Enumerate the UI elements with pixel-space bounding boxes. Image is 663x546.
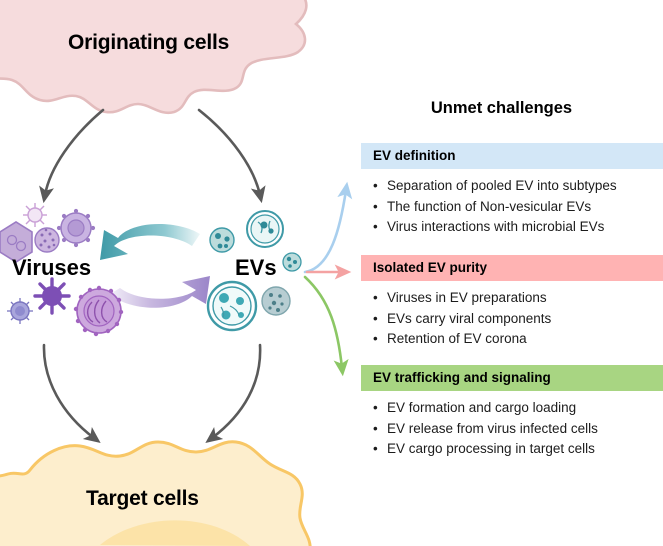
virus-corona-icon [57,209,95,247]
evs-label: EVs [235,255,277,281]
bullet-icon: • [373,217,387,238]
ev-cargo-large-icon [208,282,256,330]
list-item: • EV cargo processing in target cells [373,439,663,460]
panel-header-ev-trafficking-and-signaling: EV trafficking and signaling [361,365,663,391]
connector-ev-trafficking [305,277,342,368]
list-item-text: Separation of pooled EV into subtypes [387,176,663,197]
ev-tiny-icon [283,253,301,271]
list-item-text: EV formation and cargo loading [387,398,663,419]
bullet-icon: • [373,439,387,460]
list-item: • Separation of pooled EV into subtypes [373,176,663,197]
panel-body-ev-trafficking-and-signaling: • EV formation and cargo loading • EV re… [361,391,663,460]
list-item: • EV formation and cargo loading [373,398,663,419]
virus-enveloped-large-icon [74,286,123,336]
bullet-icon: • [373,288,387,309]
figure-canvas: Originating cells Target cells Viruses E… [0,0,663,546]
ev-small-granular-icon [210,228,234,252]
list-item-text: Viruses in EV preparations [387,288,663,309]
panel-body-ev-definition: • Separation of pooled EV into subtypes … [361,169,663,238]
bullet-icon: • [373,197,387,218]
list-item: • Viruses in EV preparations [373,288,663,309]
list-item: • Virus interactions with microbial EVs [373,217,663,238]
bullet-icon: • [373,398,387,419]
target-cells-label: Target cells [86,487,199,511]
arrow-origin-to-viruses [45,110,103,195]
list-item-text: Virus interactions with microbial EVs [387,217,663,238]
list-item: • EVs carry viral components [373,309,663,330]
panel-header-ev-definition: EV definition [361,143,663,169]
cycle-arrow-top-teal [100,224,200,260]
virus-dotted-icon [35,228,59,252]
ev-speckled-icon [262,287,290,315]
bullet-icon: • [373,419,387,440]
unmet-challenges-column: Unmet challenges EV definition • Separat… [340,0,663,546]
list-item: • EV release from virus infected cells [373,419,663,440]
bullet-icon: • [373,329,387,350]
ev-strands-icon [247,211,283,247]
cycle-arrow-bottom-purple [110,276,210,308]
viruses-label: Viruses [12,255,91,281]
list-item-text: EV release from virus infected cells [387,419,663,440]
list-item: • The function of Non-vesicular EVs [373,197,663,218]
originating-cells-label: Originating cells [68,31,229,55]
virus-small-blue-icon [7,298,33,324]
originating-cell-shape [0,0,306,113]
list-item-text: EVs carry viral components [387,309,663,330]
panel-ev-definition: EV definition • Separation of pooled EV … [361,143,663,238]
panel-body-isolated-ev-purity: • Viruses in EV preparations • EVs carry… [361,281,663,350]
list-item-text: The function of Non-vesicular EVs [387,197,663,218]
virus-spiky-small-icon [23,203,47,227]
list-item-text: EV cargo processing in target cells [387,439,663,460]
panel-isolated-ev-purity: Isolated EV purity • Viruses in EV prepa… [361,255,663,350]
panel-header-isolated-ev-purity: Isolated EV purity [361,255,663,281]
virus-knob-icon [35,279,69,313]
arrow-origin-to-evs [199,110,260,195]
cycle-arrows [100,224,210,308]
arrow-viruses-to-target [44,345,94,438]
bullet-icon: • [373,309,387,330]
unmet-challenges-title: Unmet challenges [340,99,663,118]
bullet-icon: • [373,176,387,197]
list-item-text: Retention of EV corona [387,329,663,350]
arrow-evs-to-target [212,345,260,438]
list-item: • Retention of EV corona [373,329,663,350]
panel-ev-trafficking-and-signaling: EV trafficking and signaling • EV format… [361,365,663,460]
